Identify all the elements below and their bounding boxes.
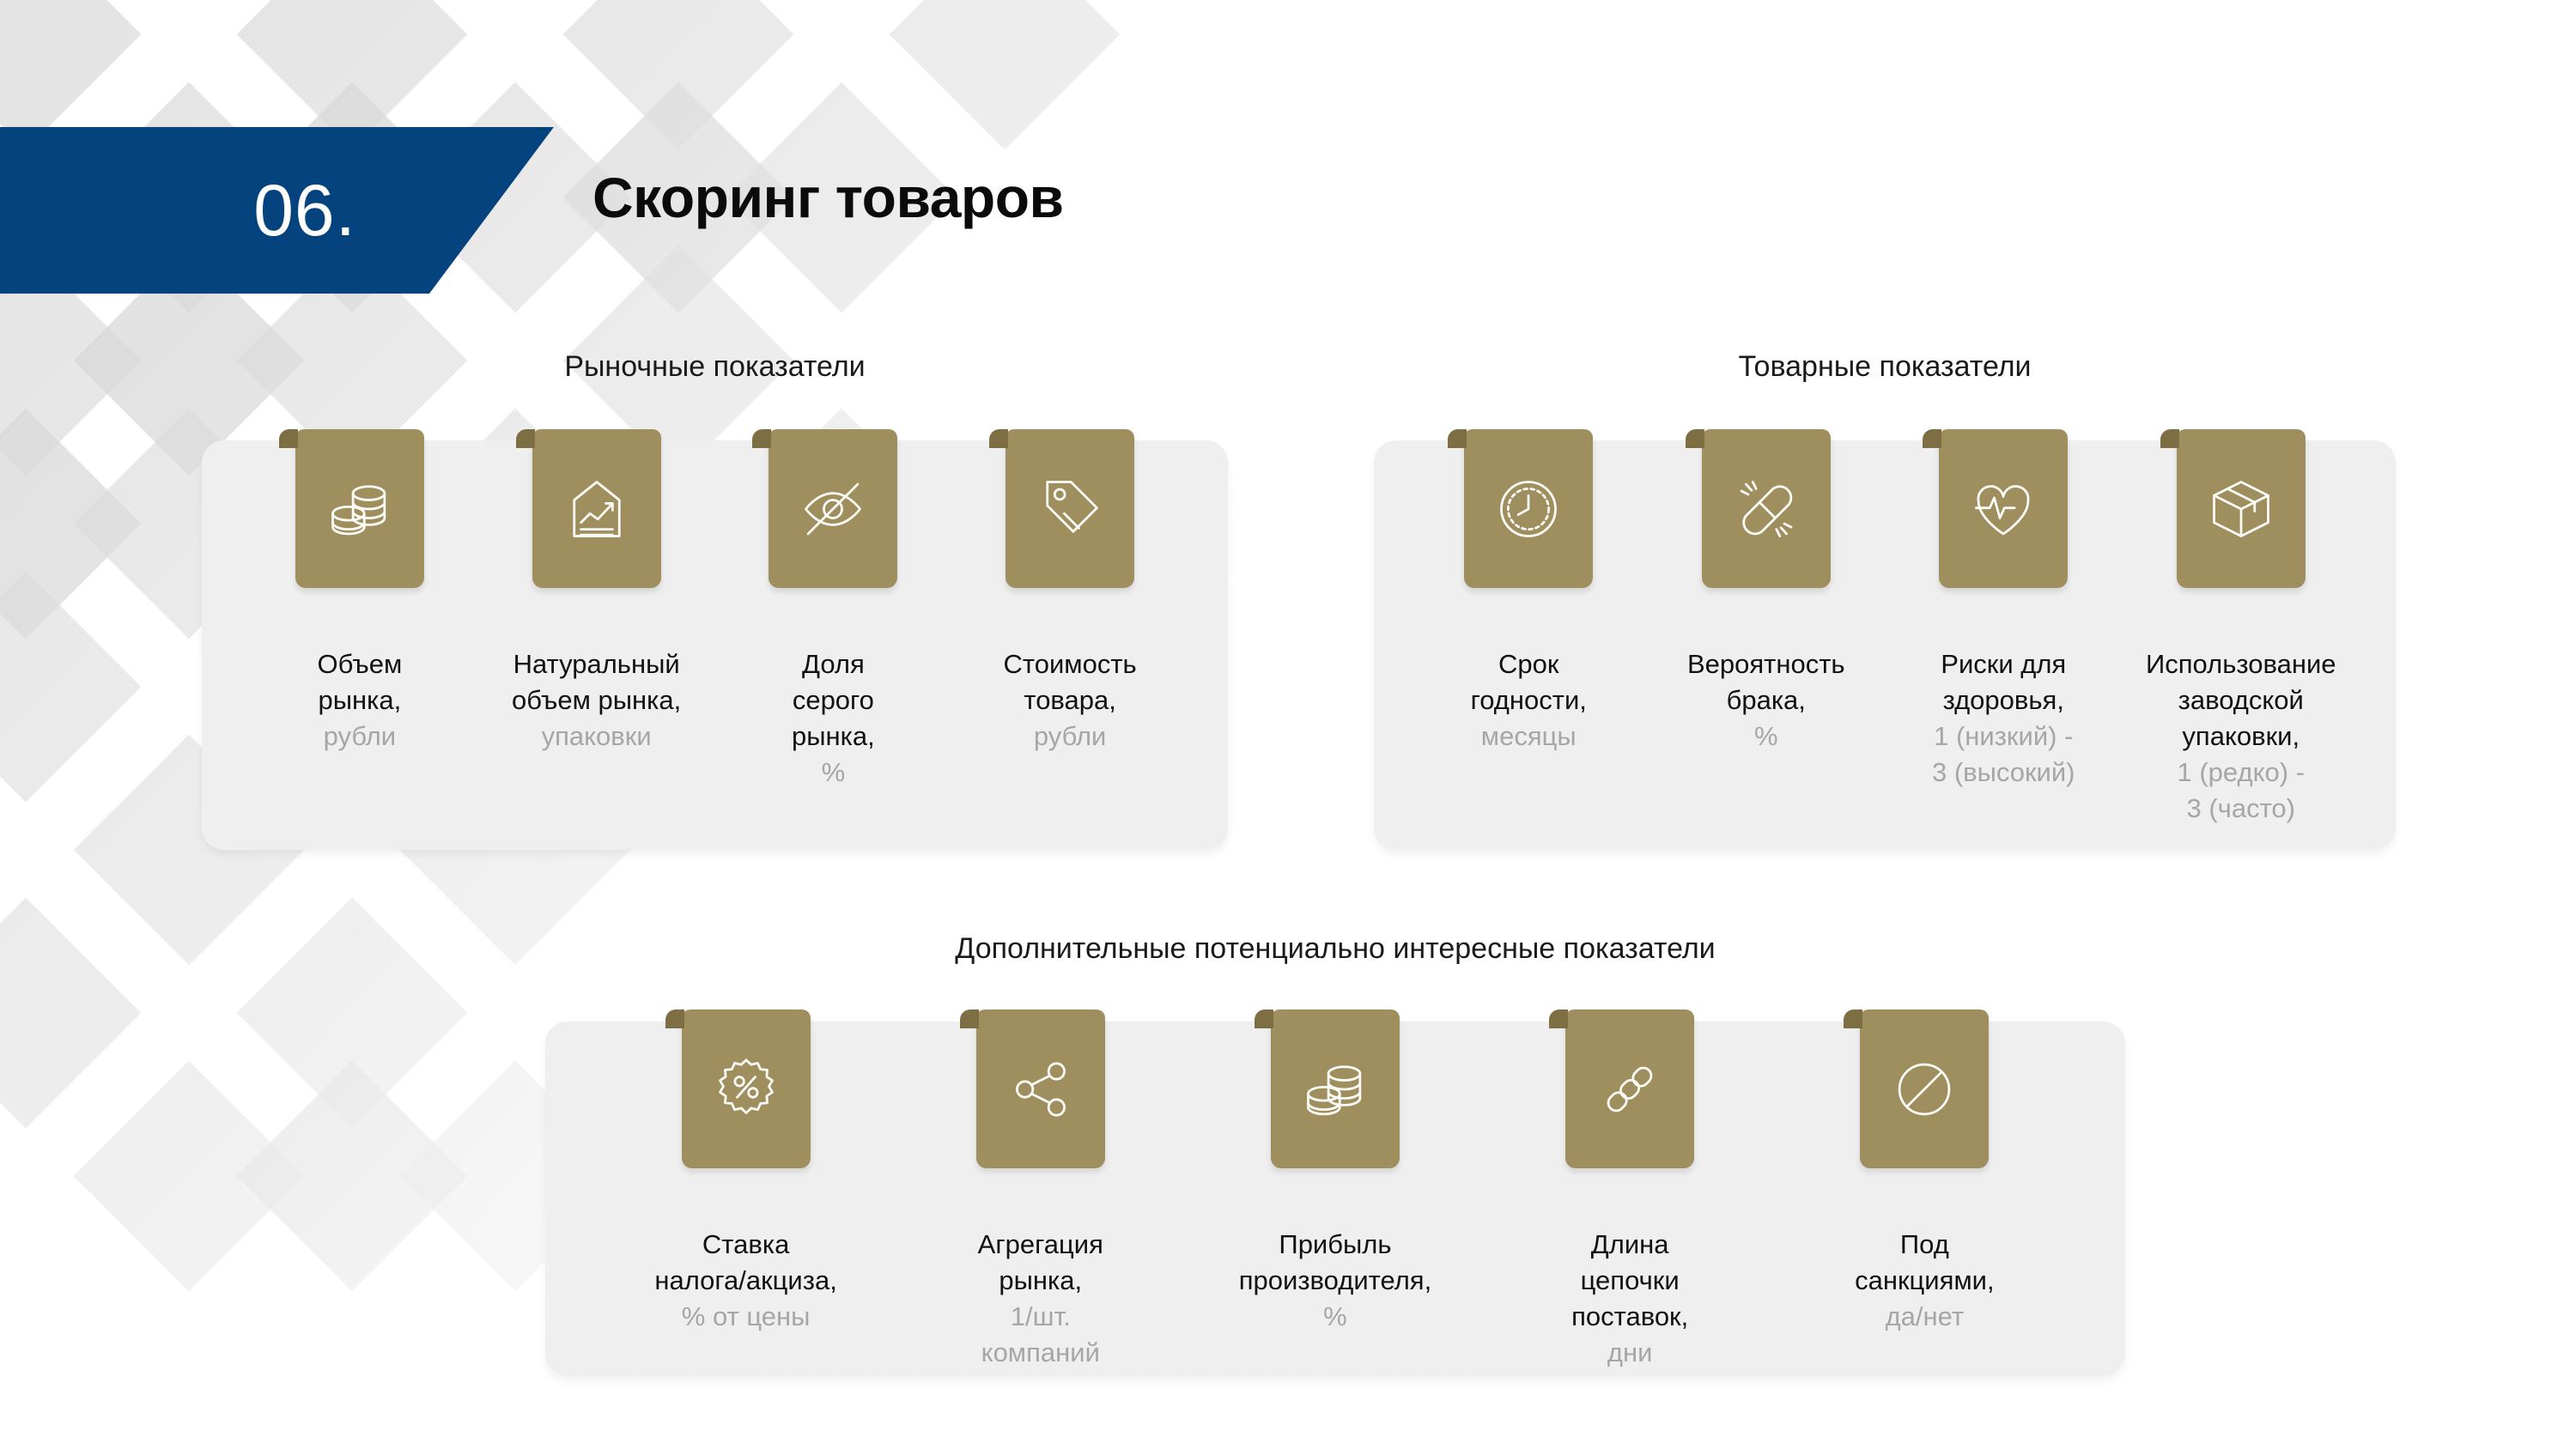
- card-defect-probability[interactable]: Вероятность брака, %: [1648, 429, 1886, 850]
- coins-stack-icon: [1299, 1053, 1371, 1125]
- card-under-sanctions[interactable]: Под санкциями, да/нет: [1777, 1009, 2072, 1379]
- card-title: Объем рынка,: [241, 646, 478, 718]
- tile-factory-packaging: [2177, 429, 2306, 588]
- card-unit: месяцы: [1410, 718, 1648, 755]
- card-unit: %: [1648, 718, 1886, 755]
- tile-tax-rate: [682, 1009, 811, 1168]
- card-title: Доля серого рынка,: [715, 646, 952, 755]
- card-supply-chain-length[interactable]: Длина цепочки поставок, дни: [1483, 1009, 1777, 1379]
- tile-natural-market-volume: [532, 429, 661, 588]
- fold-corner: [1255, 1009, 1273, 1028]
- card-natural-market-volume[interactable]: Натуральный объем рынка, упаковки: [478, 429, 715, 850]
- package-box-icon: [2205, 473, 2277, 545]
- fold-corner: [2160, 429, 2179, 448]
- ban-circle-icon: [1888, 1053, 1960, 1125]
- card-title: Длина цепочки поставок,: [1483, 1227, 1777, 1335]
- card-product-price[interactable]: Стоимость товара, рубли: [951, 429, 1188, 850]
- card-unit: 1 (низкий) - 3 (высокий): [1885, 718, 2123, 791]
- card-factory-packaging[interactable]: Использование заводской упаковки, 1 (ред…: [2123, 429, 2360, 850]
- fold-corner: [1686, 429, 1704, 448]
- fold-corner: [1923, 429, 1941, 448]
- card-unit: 1 (редко) - 3 (часто): [2123, 755, 2360, 827]
- fold-corner: [960, 1009, 979, 1028]
- card-unit: % от цены: [598, 1299, 893, 1335]
- broken-pill-icon: [1730, 473, 1802, 545]
- card-title: Вероятность брака,: [1648, 646, 1886, 718]
- tile-defect-probability: [1702, 429, 1831, 588]
- tile-under-sanctions: [1860, 1009, 1989, 1168]
- fold-corner: [1448, 429, 1467, 448]
- fold-corner: [752, 429, 771, 448]
- group-additional-indicators: Дополнительные потенциально интересные п…: [545, 932, 2125, 1379]
- coins-stack-icon: [324, 473, 396, 545]
- group-header-additional-indicators: Дополнительные потенциально интересные п…: [545, 932, 2125, 966]
- card-unit: дни: [1483, 1335, 1777, 1371]
- card-unit: рубли: [951, 718, 1188, 755]
- tile-shelf-life: [1464, 429, 1593, 588]
- card-tax-rate[interactable]: Ставка налога/акциза, % от цены: [598, 1009, 893, 1379]
- card-shelf-life[interactable]: Срок годности, месяцы: [1410, 429, 1648, 850]
- card-grey-market-share[interactable]: Доля серого рынка, %: [715, 429, 952, 850]
- card-unit: упаковки: [478, 718, 715, 755]
- fold-corner: [1844, 1009, 1862, 1028]
- slide-number: 06.: [253, 174, 356, 246]
- group-header-product-indicators: Товарные показатели: [1374, 350, 2396, 384]
- tile-manufacturer-profit: [1271, 1009, 1400, 1168]
- card-title: Натуральный объем рынка,: [478, 646, 715, 718]
- card-unit: %: [715, 755, 952, 791]
- card-unit: %: [1188, 1299, 1482, 1335]
- heart-pulse-icon: [1967, 473, 2039, 545]
- slide-header: 06. Скоринг товаров: [0, 0, 2576, 309]
- card-market-aggregation[interactable]: Агрегация рынка, 1/шт. компаний: [893, 1009, 1188, 1379]
- card-list-additional-indicators: Ставка налога/акциза, % от цены Агрегаци…: [545, 1009, 2125, 1379]
- fold-corner: [989, 429, 1008, 448]
- tile-market-aggregation: [976, 1009, 1105, 1168]
- tile-market-volume: [295, 429, 424, 588]
- eye-off-icon: [797, 473, 869, 545]
- price-tag-icon: [1034, 473, 1106, 545]
- group-product-indicators: Товарные показатели Срок годности, месяц…: [1374, 350, 2396, 850]
- card-list-product-indicators: Срок годности, месяцы Вероятно: [1374, 429, 2396, 850]
- card-title: Использование заводской упаковки,: [2123, 646, 2360, 755]
- card-title: Прибыль производителя,: [1188, 1227, 1482, 1299]
- percent-badge-icon: [710, 1053, 782, 1125]
- page-title: Скоринг товаров: [592, 165, 1064, 230]
- slide-number-banner: 06.: [0, 127, 554, 294]
- share-network-icon: [1005, 1053, 1077, 1125]
- group-header-market-indicators: Рыночные показатели: [202, 350, 1228, 384]
- tile-health-risks: [1939, 429, 2068, 588]
- fold-corner: [665, 1009, 684, 1028]
- clock-icon: [1492, 473, 1564, 545]
- group-market-indicators: Рыночные показатели Объем рынка, рубли: [202, 350, 1228, 850]
- card-title: Риски для здоровья,: [1885, 646, 2123, 718]
- card-title: Ставка налога/акциза,: [598, 1227, 893, 1299]
- card-health-risks[interactable]: Риски для здоровья, 1 (низкий) - 3 (высо…: [1885, 429, 2123, 850]
- card-manufacturer-profit[interactable]: Прибыль производителя, %: [1188, 1009, 1482, 1379]
- card-unit: рубли: [241, 718, 478, 755]
- tile-grey-market-share: [769, 429, 897, 588]
- card-title: Агрегация рынка,: [893, 1227, 1188, 1299]
- tile-product-price: [1005, 429, 1134, 588]
- card-unit: 1/шт. компаний: [893, 1299, 1188, 1371]
- tile-supply-chain-length: [1565, 1009, 1694, 1168]
- card-title: Стоимость товара,: [951, 646, 1188, 718]
- chain-link-icon: [1594, 1053, 1666, 1125]
- fold-corner: [279, 429, 298, 448]
- card-list-market-indicators: Объем рынка, рубли Натуральный объем рын…: [202, 429, 1228, 850]
- fold-corner: [516, 429, 535, 448]
- chart-growth-icon: [561, 473, 633, 545]
- card-market-volume[interactable]: Объем рынка, рубли: [241, 429, 478, 850]
- card-title: Под санкциями,: [1777, 1227, 2072, 1299]
- card-unit: да/нет: [1777, 1299, 2072, 1335]
- fold-corner: [1549, 1009, 1568, 1028]
- card-title: Срок годности,: [1410, 646, 1648, 718]
